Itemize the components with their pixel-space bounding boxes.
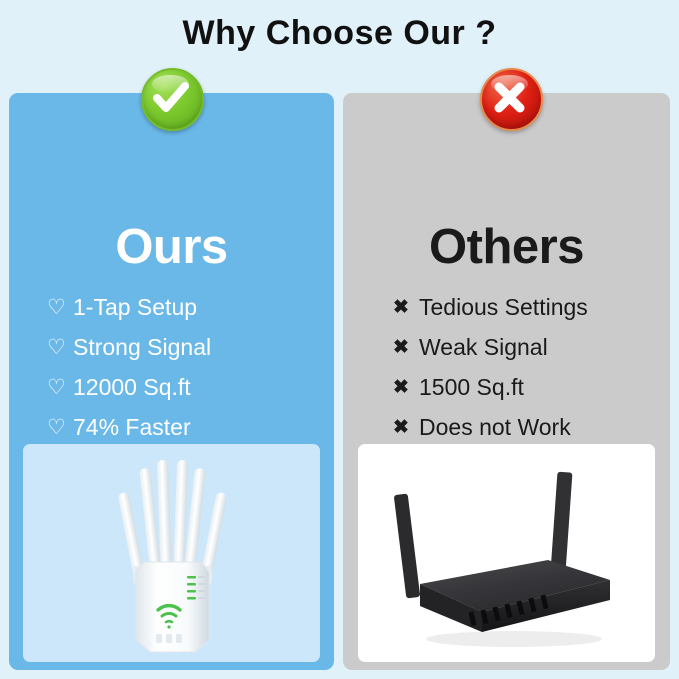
heart-icon: ♡ [47,377,73,398]
list-item: ✖ Does not Work [343,407,670,447]
ours-item-label: 12000 Sq.ft [73,374,191,401]
black-router-icon [358,444,655,662]
cross-icon: ✖ [393,298,419,317]
others-heading: Others [343,219,670,275]
list-item: ♡ 1-Tap Setup [9,287,334,327]
ours-item-label: 1-Tap Setup [73,294,197,321]
heart-icon: ♡ [47,297,73,318]
list-item: ♡ 74% Faster [9,407,334,447]
green-check-badge-icon [141,68,204,131]
cross-icon: ✖ [393,418,419,437]
red-x-badge-icon [480,68,543,131]
cross-icon: ✖ [393,338,419,357]
ours-item-label: Strong Signal [73,334,211,361]
others-item-label: Does not Work [419,414,571,441]
list-item: ✖ Weak Signal [343,327,670,367]
ours-panel: Ours ♡ 1-Tap Setup ♡ Strong Signal ♡ 120… [9,93,334,670]
ours-heading: Ours [9,219,334,275]
heart-icon: ♡ [47,417,73,438]
page-title: Why Choose Our ? [0,14,679,53]
white-wifi-extender-icon [23,444,320,662]
others-item-label: Weak Signal [419,334,548,361]
ours-product-image-card [23,444,320,662]
list-item: ✖ 1500 Sq.ft [343,367,670,407]
ours-item-label: 74% Faster [73,414,191,441]
list-item: ♡ 12000 Sq.ft [9,367,334,407]
others-item-label: Tedious Settings [419,294,588,321]
others-item-label: 1500 Sq.ft [419,374,524,401]
list-item: ♡ Strong Signal [9,327,334,367]
cross-icon: ✖ [393,378,419,397]
heart-icon: ♡ [47,337,73,358]
list-item: ✖ Tedious Settings [343,287,670,327]
others-product-image-card [358,444,655,662]
others-panel: Others ✖ Tedious Settings ✖ Weak Signal … [343,93,670,670]
